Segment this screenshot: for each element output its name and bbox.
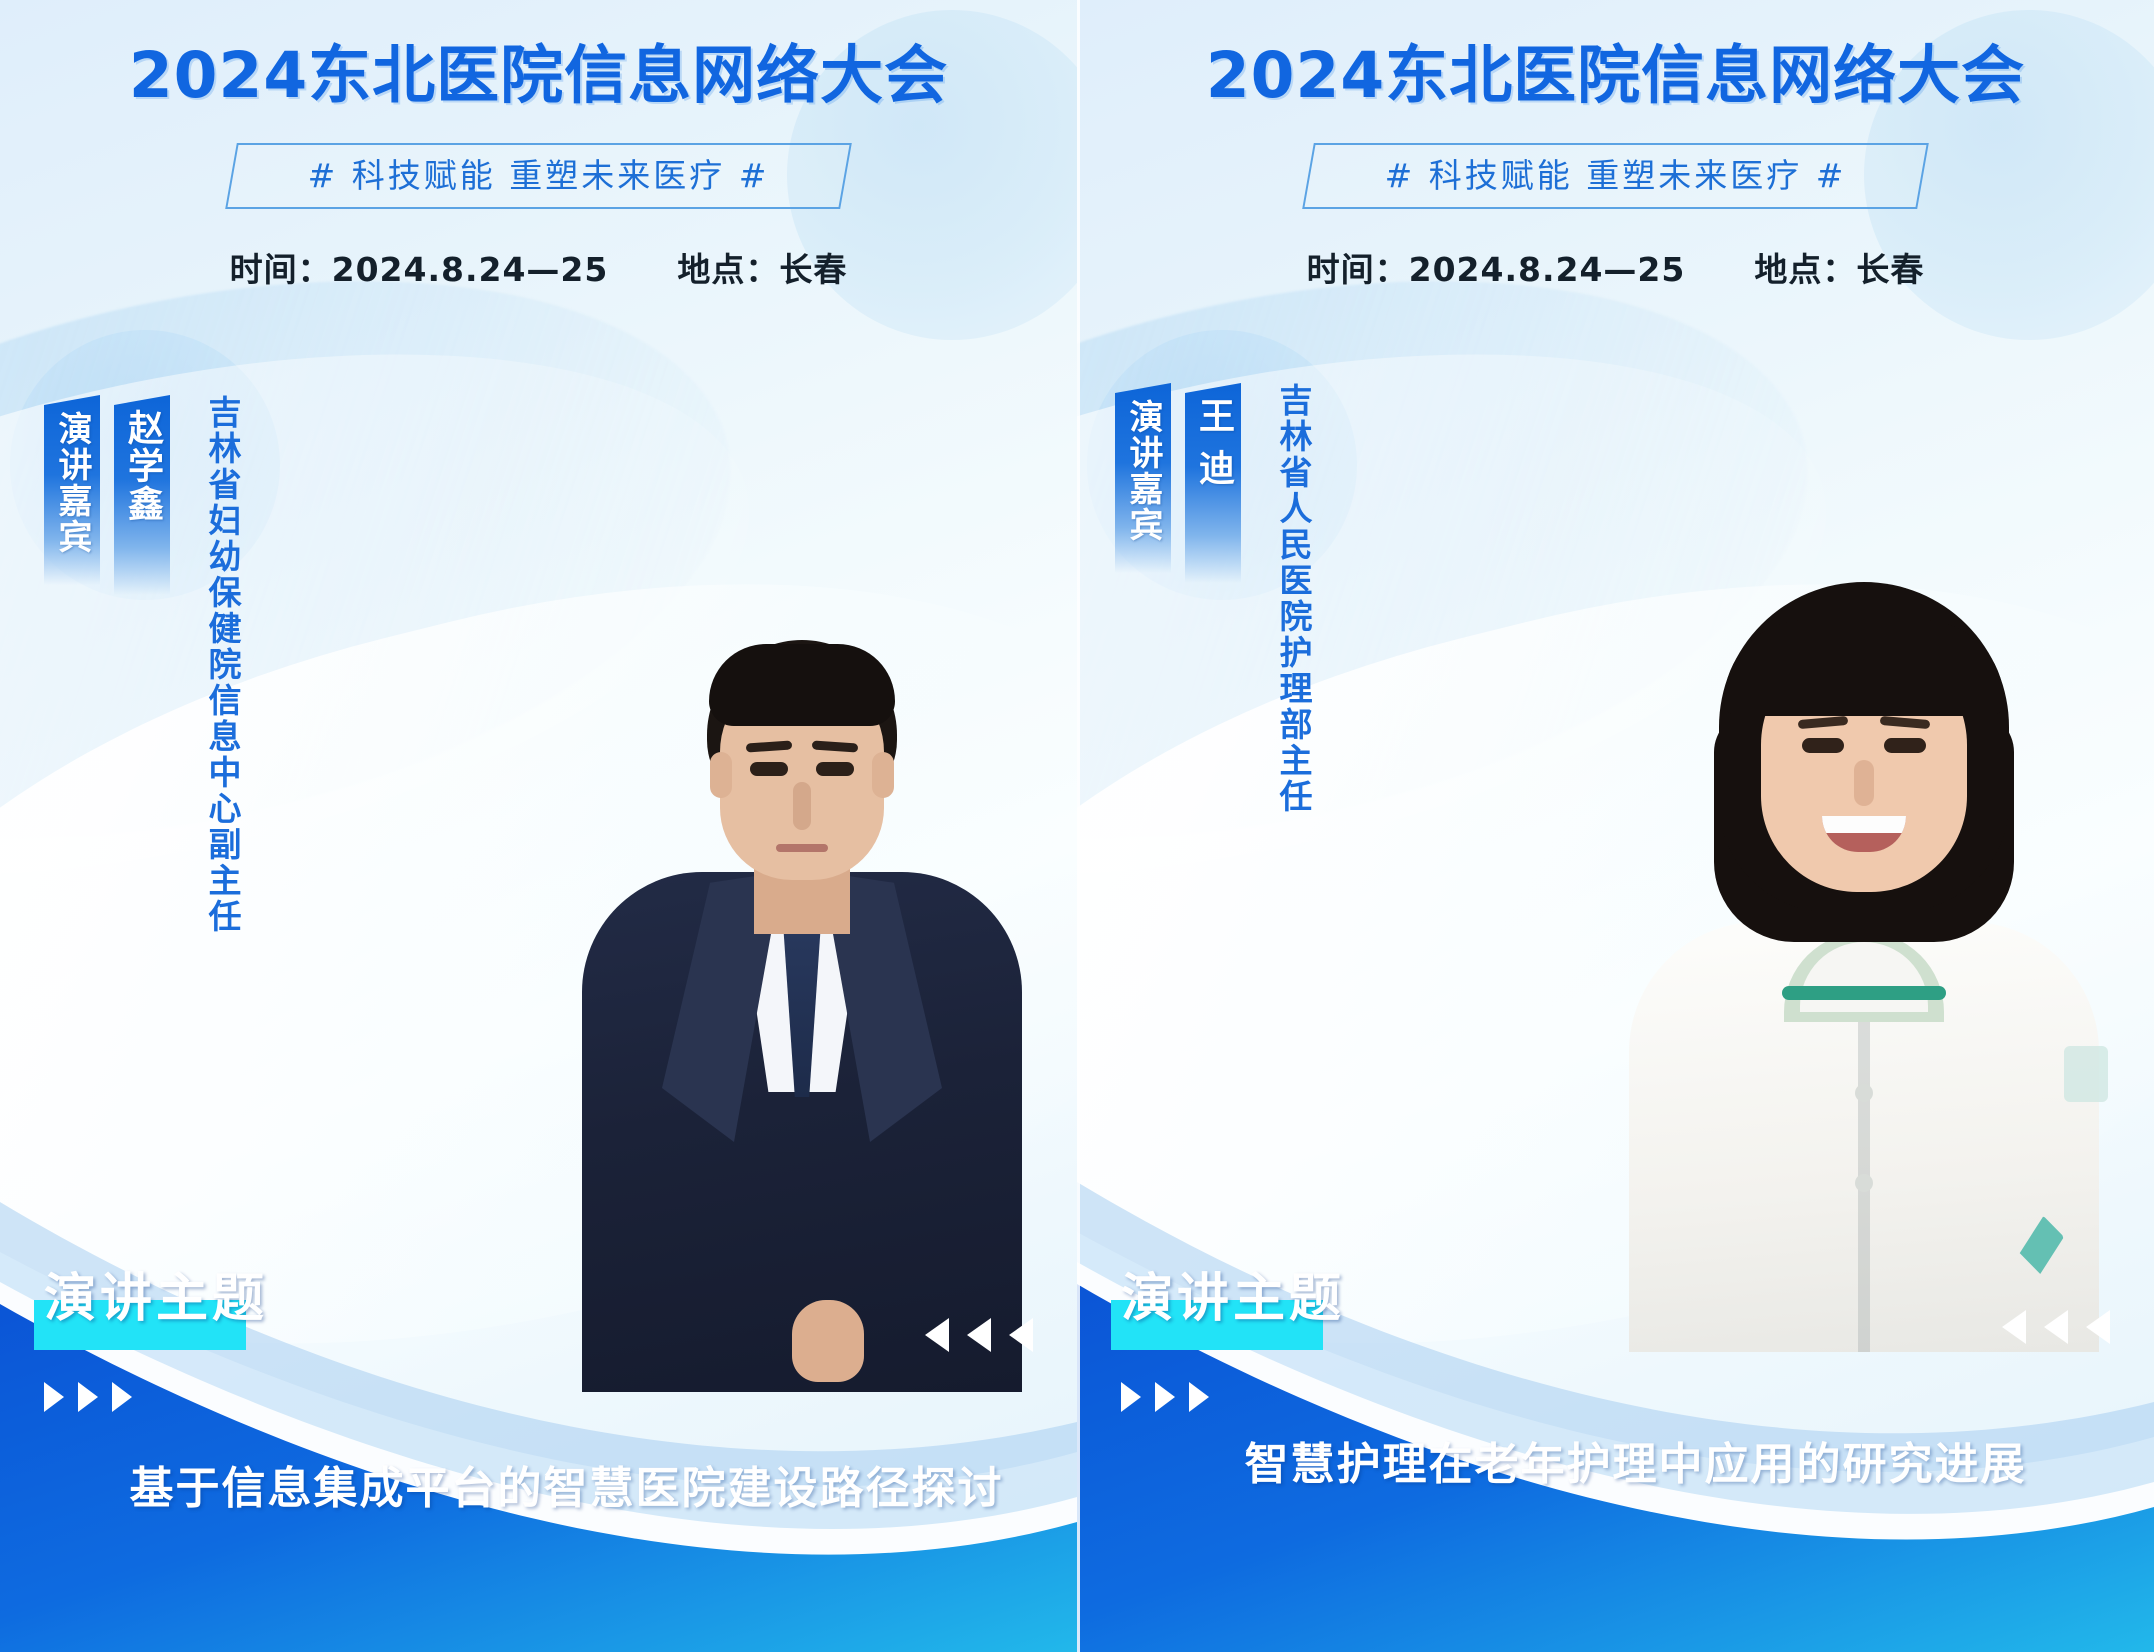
- slogan-text: # 科技赋能 重塑未来医疗 #: [231, 143, 846, 209]
- triangle-left-icon: [967, 1318, 991, 1352]
- topic-section: 演讲主题 智慧护理在老年护理中应用的研究进展: [1077, 1232, 2154, 1652]
- topic-label-wrap: 演讲主题: [44, 1256, 268, 1331]
- eye-right: [816, 762, 854, 776]
- ear-left: [710, 752, 732, 798]
- hair-fringe: [709, 644, 895, 726]
- speaker-tag-group: 演讲嘉宾 王迪 吉林省人民医院护理部主任: [1115, 383, 1313, 815]
- triangle-left-icon: [2044, 1310, 2068, 1344]
- conference-meta: 时间：2024.8.24—25 地点：长春: [0, 243, 1077, 291]
- role-tag-label: 演讲嘉宾: [44, 395, 100, 555]
- speaker-poster-left: 2024东北医院信息网络大会 # 科技赋能 重塑未来医疗 # 时间：2024.8…: [0, 0, 1077, 1652]
- eye-right: [1884, 738, 1926, 753]
- triangle-left-icon-group: [925, 1318, 1033, 1352]
- conference-place: 地点：长春: [677, 250, 847, 289]
- eye-left: [1802, 738, 1844, 753]
- triangle-right-icon-group: [1121, 1382, 1209, 1412]
- uniform-button: [1855, 1084, 1873, 1102]
- eye-left: [750, 762, 788, 776]
- conference-time: 时间：2024.8.24—25: [1307, 250, 1686, 289]
- uniform-button: [1855, 1174, 1873, 1192]
- poster-divider: [1077, 0, 1080, 1652]
- poster-header: 2024东北医院信息网络大会 # 科技赋能 重塑未来医疗 # 时间：2024.8…: [1077, 0, 2154, 291]
- triangle-left-icon-group: [2002, 1310, 2110, 1344]
- hair-fringe: [1724, 620, 2004, 716]
- triangle-right-icon: [1155, 1382, 1175, 1412]
- ear-right: [872, 752, 894, 798]
- collar-stripe: [1782, 986, 1946, 1000]
- triangle-right-icon: [1121, 1382, 1141, 1412]
- topic-title: 智慧护理在老年护理中应用的研究进展: [1077, 1428, 2154, 1492]
- mouth: [776, 844, 828, 852]
- role-tag: 演讲嘉宾: [1115, 383, 1171, 573]
- triangle-left-icon: [2086, 1310, 2110, 1344]
- speaker-name-tag: 赵学鑫: [114, 395, 170, 595]
- speaker-tag-group: 演讲嘉宾 赵学鑫 吉林省妇幼保健院信息中心副主任: [44, 395, 242, 935]
- slogan-banner: # 科技赋能 重塑未来医疗 #: [1308, 143, 1923, 209]
- topic-title: 基于信息集成平台的智慧医院建设路径探讨: [0, 1452, 1077, 1516]
- role-tag-label: 演讲嘉宾: [1115, 383, 1171, 543]
- triangle-left-icon: [2002, 1310, 2026, 1344]
- speaker-name-label: 赵学鑫: [114, 395, 170, 523]
- conference-title: 2024东北医院信息网络大会: [1077, 44, 2154, 107]
- conference-time: 时间：2024.8.24—25: [230, 250, 609, 289]
- poster-header: 2024东北医院信息网络大会 # 科技赋能 重塑未来医疗 # 时间：2024.8…: [0, 0, 1077, 291]
- conference-meta: 时间：2024.8.24—25 地点：长春: [1077, 243, 2154, 291]
- conference-place: 地点：长春: [1754, 250, 1924, 289]
- topic-section: 演讲主题 基于信息集成平台的智慧医院建设路径探讨: [0, 1232, 1077, 1652]
- poster-pair: 2024东北医院信息网络大会 # 科技赋能 重塑未来医疗 # 时间：2024.8…: [0, 0, 2154, 1652]
- topic-label-wrap: 演讲主题: [1121, 1256, 1345, 1331]
- triangle-right-icon: [78, 1382, 98, 1412]
- triangle-right-icon: [44, 1382, 64, 1412]
- topic-label-text: 演讲主题: [44, 1256, 268, 1331]
- triangle-left-icon: [1009, 1318, 1033, 1352]
- speaker-poster-right: 2024东北医院信息网络大会 # 科技赋能 重塑未来医疗 # 时间：2024.8…: [1077, 0, 2154, 1652]
- triangle-right-icon: [112, 1382, 132, 1412]
- triangle-left-icon: [925, 1318, 949, 1352]
- speaker-title-text: 吉林省妇幼保健院信息中心副主任: [202, 395, 242, 935]
- triangle-right-icon: [1189, 1382, 1209, 1412]
- slogan-banner: # 科技赋能 重塑未来医疗 #: [231, 143, 846, 209]
- nose: [793, 782, 811, 830]
- role-tag: 演讲嘉宾: [44, 395, 100, 585]
- nose: [1854, 760, 1874, 806]
- speaker-name-label: 王迪: [1185, 383, 1241, 501]
- uniform-badge: [2064, 1046, 2108, 1102]
- slogan-text: # 科技赋能 重塑未来医疗 #: [1308, 143, 1923, 209]
- speaker-title-text: 吉林省人民医院护理部主任: [1273, 383, 1313, 815]
- conference-title: 2024东北医院信息网络大会: [0, 44, 1077, 107]
- teeth: [1822, 816, 1906, 833]
- triangle-right-icon-group: [44, 1382, 132, 1412]
- speaker-name-tag: 王迪: [1185, 383, 1241, 583]
- topic-label-text: 演讲主题: [1121, 1256, 1345, 1331]
